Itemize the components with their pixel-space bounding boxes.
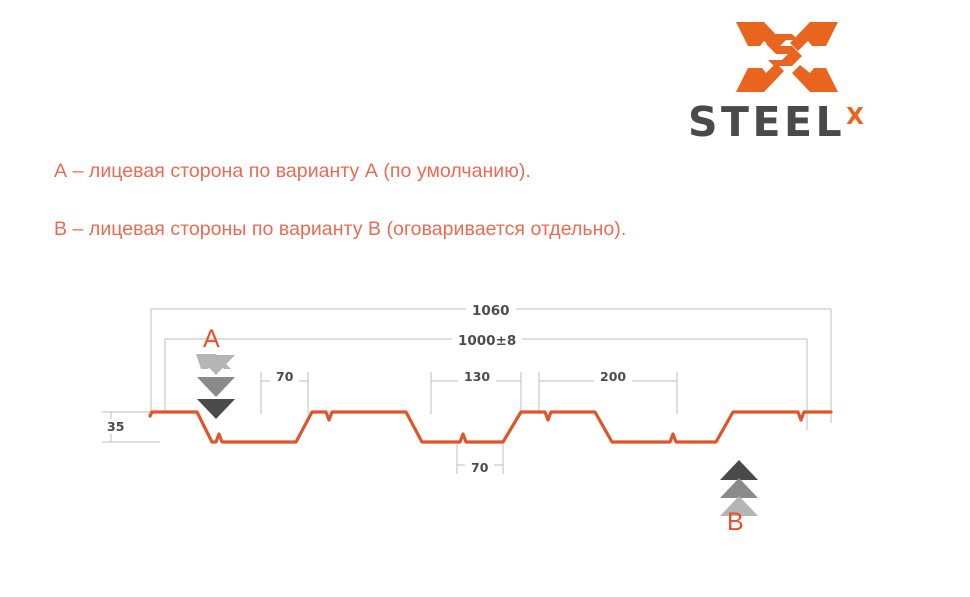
dimension-label-working-width: 1000±8 xyxy=(452,333,522,349)
dimension-label-overall-width: 1060 xyxy=(466,303,516,319)
chevron-b-2 xyxy=(720,478,758,498)
dimension-label-rib-pitch-130: 130 xyxy=(458,369,496,384)
dimension-label-rib-pitch-200: 200 xyxy=(594,369,632,384)
dimension-label-height: 35 xyxy=(101,419,130,434)
marker-label-b: B xyxy=(727,508,744,537)
dimension-label-valley-bottom: 70 xyxy=(465,460,494,475)
chevron-a-3 xyxy=(197,399,235,419)
corrugated-profile-path xyxy=(150,412,831,442)
marker-label-a: A xyxy=(203,325,220,354)
marker-a-chevrons xyxy=(194,350,238,419)
dimension-label-crest-top: 70 xyxy=(270,369,299,384)
chevron-b-1 xyxy=(720,460,758,480)
chevron-a-2 xyxy=(197,377,235,397)
profile-technical-drawing xyxy=(0,0,970,597)
